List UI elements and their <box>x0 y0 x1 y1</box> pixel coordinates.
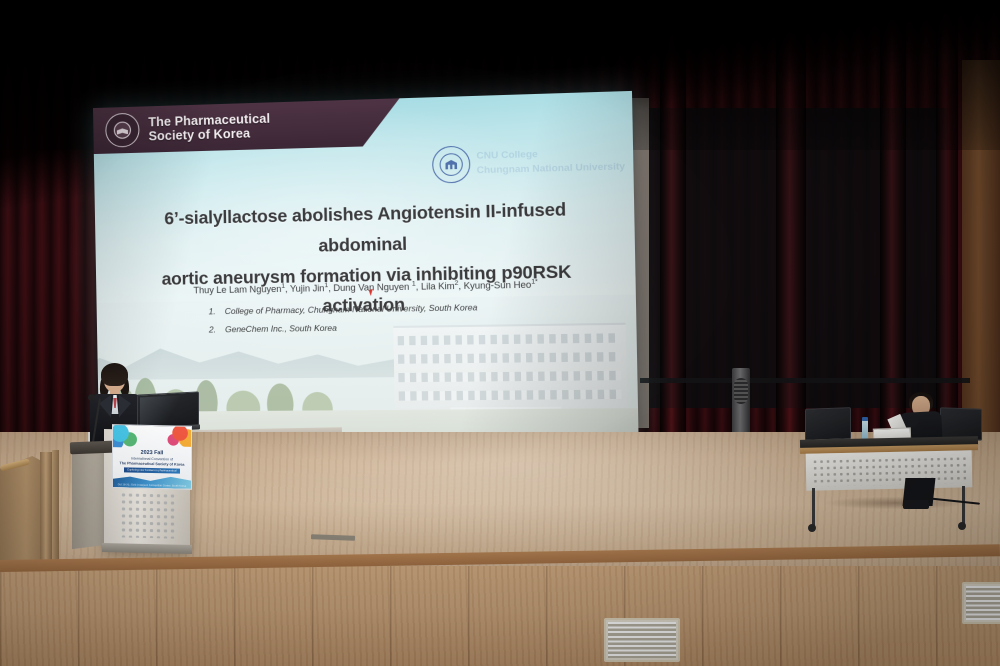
author-entry: Thuy Le Lam Nguyen1, <box>193 284 290 296</box>
slide-title-line1: 6’-sialyllactose abolishes Angiotensin I… <box>133 194 601 265</box>
affiliation-number: 1. <box>205 306 215 316</box>
podium-side-panel <box>72 445 106 549</box>
author-entry: Yujin Jin1, <box>290 283 334 294</box>
floor-vent-right <box>962 582 1000 624</box>
floor-bag <box>903 500 929 509</box>
table-caster <box>958 522 966 530</box>
speaker-hair <box>101 363 128 386</box>
affiliation-text: GeneChem Inc., South Korea <box>225 323 337 335</box>
psk-banner: The Pharmaceutical Society of Korea <box>93 98 400 154</box>
audio-speaker-column <box>732 368 750 440</box>
table-leg <box>812 488 815 526</box>
apron-seams <box>0 566 1000 666</box>
table-leg <box>962 486 965 524</box>
table-caster <box>808 524 816 532</box>
microphone-icon <box>88 394 95 401</box>
panel-laptop-left[interactable] <box>805 407 851 441</box>
psk-banner-line2: Society of Korea <box>148 126 270 144</box>
author-entry: Lila Kim2, <box>421 281 464 292</box>
slide-affiliations: 1.College of Pharmacy, Chungnam National… <box>205 300 626 343</box>
banner-line2: The Pharmaceutical Society of Korea <box>113 461 191 467</box>
banner-splash-left <box>112 424 145 448</box>
affiliation-row: 2.GeneChem Inc., South Korea <box>206 319 626 335</box>
podium-banner: 2023 Fall International Convention of Th… <box>112 424 192 490</box>
water-bottle <box>862 420 868 439</box>
floor-vent-left <box>604 618 680 662</box>
auditorium-scene: The Pharmaceutical Society of Korea CNU … <box>0 0 1000 666</box>
stage-rail <box>640 378 970 383</box>
water-bottle-cap <box>862 417 868 421</box>
affiliation-number: 2. <box>206 324 216 334</box>
podium-perforation <box>120 491 176 538</box>
psk-seal-icon <box>105 113 140 148</box>
projection-screen[interactable]: The Pharmaceutical Society of Korea CNU … <box>93 91 639 438</box>
cnu-faded-text: CNU College Chungnam National University <box>476 145 638 179</box>
stage-panel-post <box>52 450 59 562</box>
banner-theme-strip: Exploring new frontiers in pharmaceutica… <box>124 467 180 473</box>
author-entry: Kyung-Sun Heo1* <box>464 279 538 291</box>
author-entry: Dung Van Nguyen 1, <box>333 281 421 293</box>
panel-table-perforation <box>812 455 967 486</box>
banner-splash-right <box>159 424 192 447</box>
